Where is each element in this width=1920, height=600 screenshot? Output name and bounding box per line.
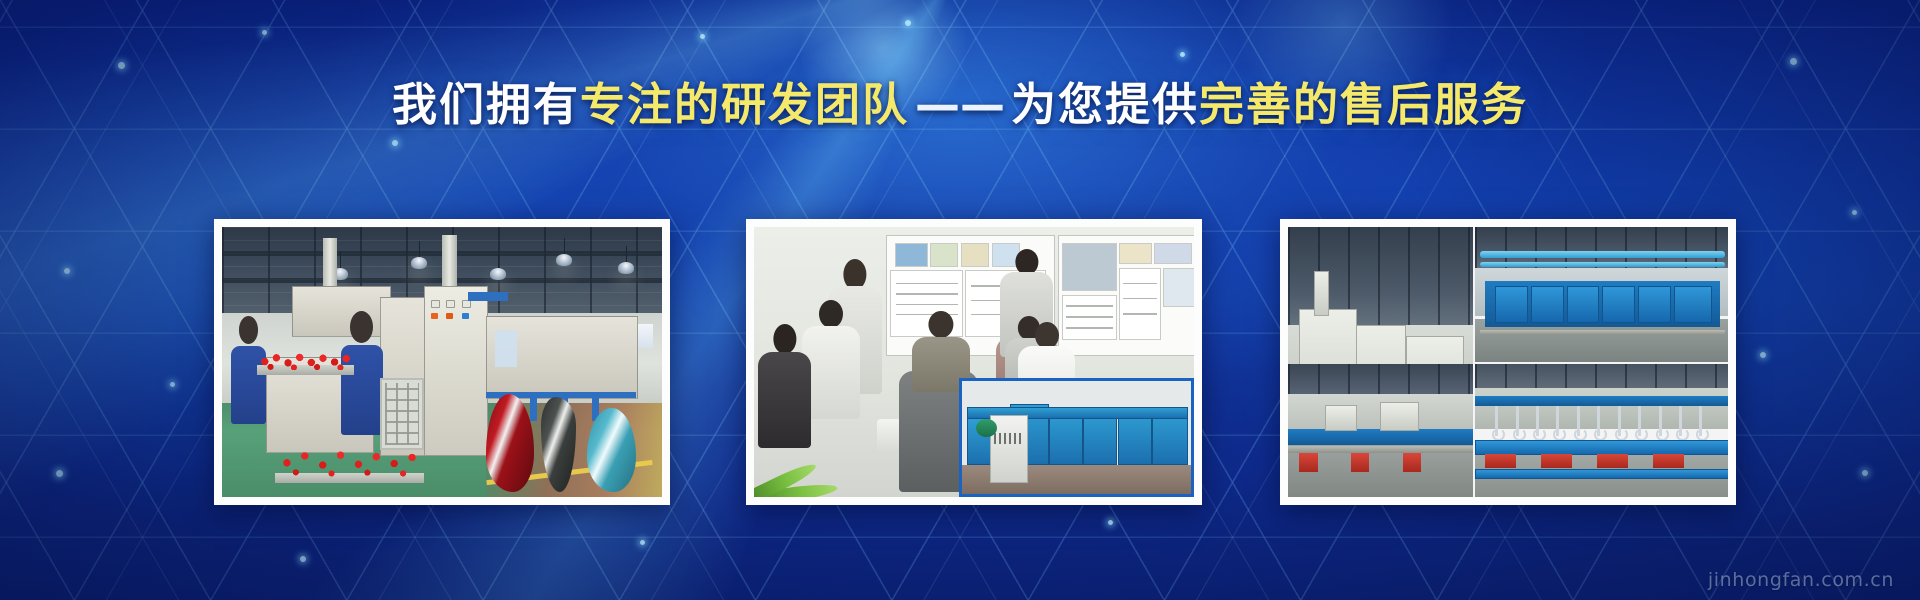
headline-segment-3: 为您提供 [1011, 78, 1199, 131]
factory-production-line-image [222, 227, 662, 497]
potted-plant [754, 400, 886, 497]
headline-segment-4-highlight: 完善的售后服务 [1199, 78, 1528, 131]
photo-panel-plant-equipment[interactable] [1280, 219, 1736, 505]
photo-panel-factory-production-line[interactable] [214, 219, 670, 505]
photo-gallery [0, 219, 1920, 505]
customer-meeting-image [754, 227, 1194, 497]
headline-em-dash: —— [909, 78, 1011, 131]
banner-root: 我们拥有专注的研发团队——为您提供完善的售后服务 [0, 0, 1920, 600]
collage-cell-overhead-hanger-line [1475, 364, 1728, 497]
headline-segment-1: 我们拥有 [392, 78, 580, 131]
site-watermark: jinhongfan.com.cn [1708, 569, 1894, 591]
collage-cell-blue-piping [1475, 227, 1728, 362]
plant-equipment-collage-image [1288, 227, 1728, 497]
inset-equipment-photo [959, 378, 1194, 497]
collage-cell-conveyor-carts [1288, 364, 1473, 497]
page-title: 我们拥有专注的研发团队——为您提供完善的售后服务 [0, 78, 1920, 131]
photo-panel-customer-meeting[interactable] [746, 219, 1202, 505]
headline-segment-2-highlight: 专注的研发团队 [580, 78, 909, 131]
